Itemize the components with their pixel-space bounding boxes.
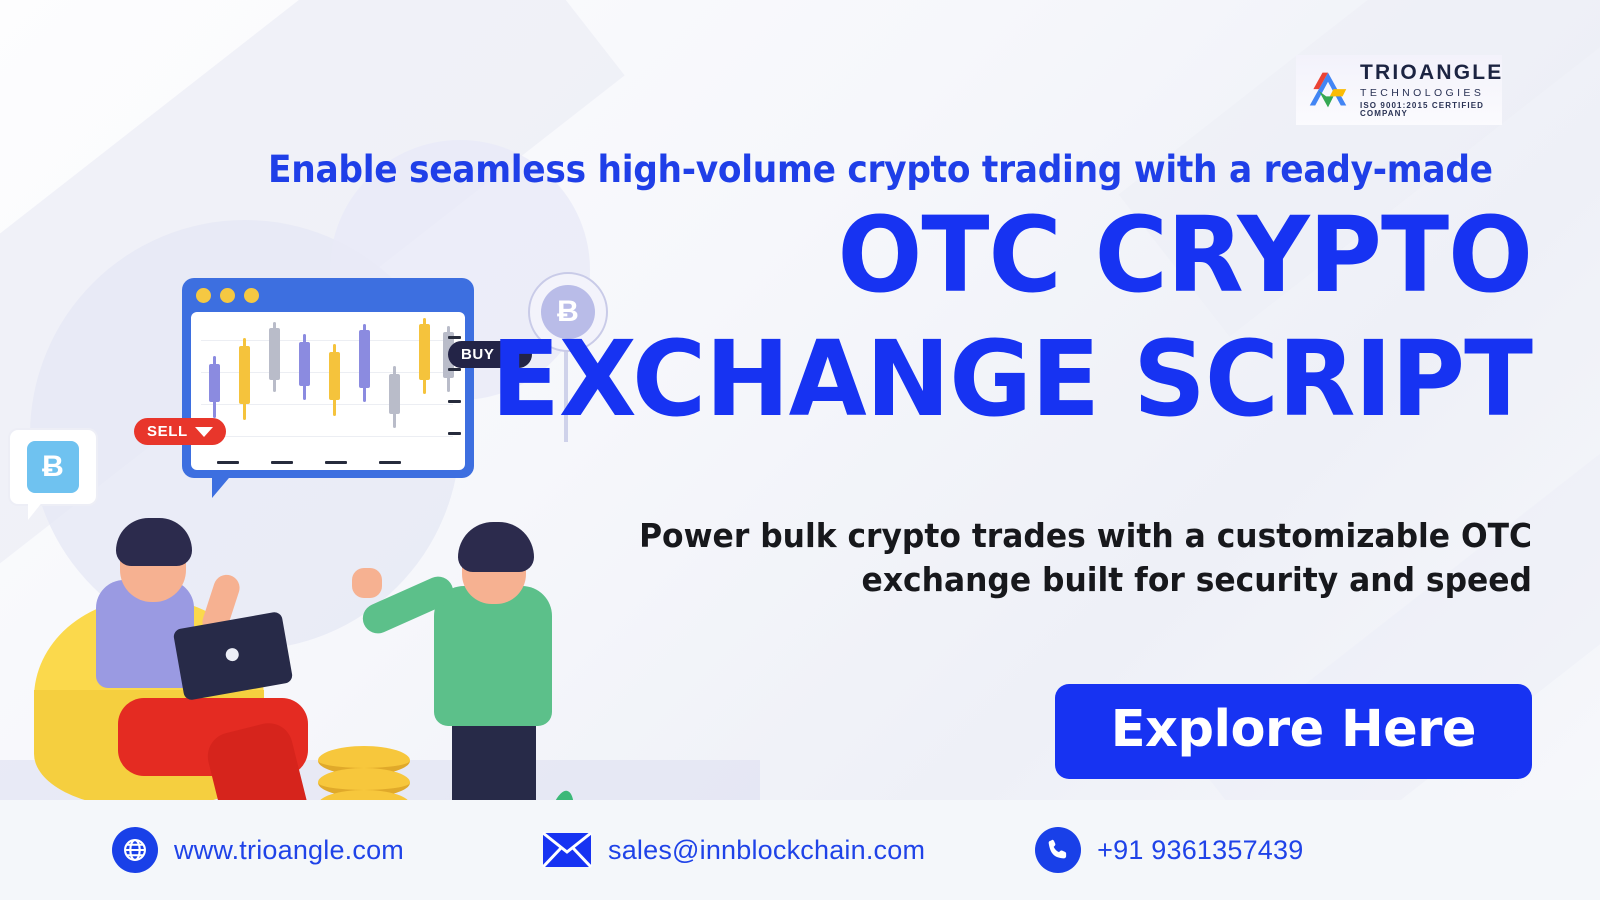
chart-candle <box>269 328 280 380</box>
phone-text: +91 9361357439 <box>1097 835 1303 866</box>
contact-footer: www.trioangle.com sales@innblockchain.co… <box>0 800 1600 900</box>
chart-candle <box>359 330 370 388</box>
phone-icon <box>1035 827 1081 873</box>
company-logo[interactable]: TRIOANGLE TECHNOLOGIES ISO 9001:2015 CER… <box>1296 55 1502 125</box>
sell-badge[interactable]: SELL <box>134 418 226 445</box>
chart-gridline <box>201 404 453 405</box>
chart-candle <box>209 364 220 402</box>
chart-x-tick <box>325 461 347 464</box>
promo-banner: Ƀ Ƀ SELL BUY <box>0 0 1600 900</box>
logo-company-sub: TECHNOLOGIES <box>1360 88 1502 99</box>
window-dot-3 <box>244 288 259 303</box>
chart-y-tick <box>448 400 461 403</box>
standing-person-torso <box>434 586 552 726</box>
website-text: www.trioangle.com <box>174 835 404 866</box>
chart-candle <box>299 342 310 386</box>
hero-subtitle: Power bulk crypto trades with a customiz… <box>639 514 1532 601</box>
window-dot-1 <box>196 288 211 303</box>
chart-x-tick <box>271 461 293 464</box>
chart-window-tail <box>212 472 234 498</box>
chart-gridline <box>201 436 453 437</box>
trioangle-logo-icon <box>1306 69 1350 111</box>
email-text: sales@innblockchain.com <box>608 835 925 866</box>
logo-text-block: TRIOANGLE TECHNOLOGIES ISO 9001:2015 CER… <box>1360 62 1502 119</box>
standing-person-hair <box>458 522 534 572</box>
chart-candle <box>329 352 340 400</box>
chart-y-tick <box>448 432 461 435</box>
chart-x-tick <box>217 461 239 464</box>
contact-phone[interactable]: +91 9361357439 <box>1035 827 1303 873</box>
chart-candle <box>239 346 250 404</box>
globe-icon <box>112 827 158 873</box>
chart-candle <box>419 324 430 380</box>
chart-gridline <box>201 340 453 341</box>
bitcoin-chat-card: Ƀ <box>8 428 98 506</box>
trading-chart-window <box>182 278 474 478</box>
hero-title-line-1: OTC CRYPTO <box>476 206 1532 305</box>
bitcoin-card-tail <box>28 500 44 520</box>
chart-y-tick <box>448 368 461 371</box>
logo-company-name: TRIOANGLE <box>1360 62 1502 83</box>
candlestick-chart <box>191 312 465 470</box>
logo-iso-line: ISO 9001:2015 CERTIFIED COMPANY <box>1360 102 1502 118</box>
explore-here-button[interactable]: Explore Here <box>1055 684 1532 779</box>
seated-person-hair <box>116 518 192 566</box>
contact-email[interactable]: sales@innblockchain.com <box>542 832 925 868</box>
arrow-down-icon <box>195 427 213 437</box>
hero-eyebrow: Enable seamless high-volume crypto tradi… <box>268 148 1440 191</box>
chart-y-tick <box>448 336 461 339</box>
bitcoin-icon-card: Ƀ <box>27 441 79 493</box>
chart-candle <box>389 374 400 414</box>
sell-label: SELL <box>147 423 188 440</box>
chart-x-tick <box>379 461 401 464</box>
envelope-icon <box>542 832 592 868</box>
contact-website[interactable]: www.trioangle.com <box>112 827 404 873</box>
standing-person-hand <box>352 568 382 598</box>
hero-title-line-2: EXCHANGE SCRIPT <box>465 330 1532 429</box>
window-dot-2 <box>220 288 235 303</box>
